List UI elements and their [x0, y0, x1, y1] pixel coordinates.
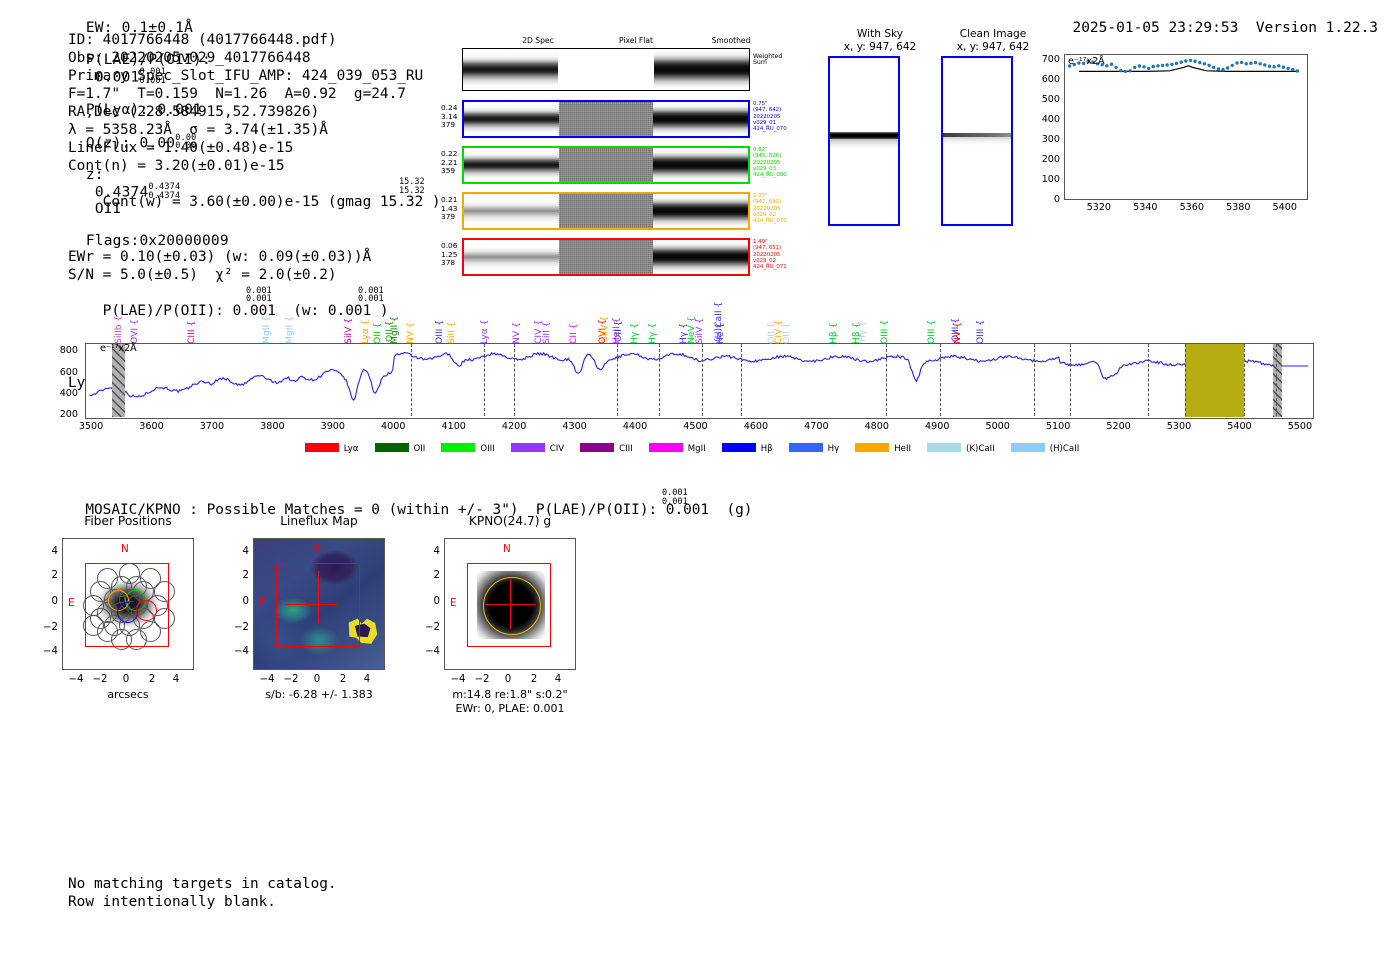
legend-swatch [305, 443, 339, 452]
emission-line-label: Lyα { [479, 308, 490, 344]
lineflux-map-caption: s/b: -6.28 +/- 1.383 [219, 688, 419, 702]
fiber-pixelflat [559, 102, 654, 136]
fiber-left-values: 0.243.14379 [441, 104, 461, 130]
legend-swatch [511, 443, 545, 452]
lineflux-map-plot[interactable]: N E [253, 538, 385, 670]
spectrum-xtick: 4900 [915, 421, 959, 432]
info-gmag-range: 15.3215.32 [399, 178, 425, 195]
info-cont-n: Cont(n) = 3.20(±0.01)e-15 [68, 157, 441, 175]
zoom-ytick: 100 [1036, 174, 1060, 185]
spectrum-marker-line [514, 344, 515, 416]
spectrum-marker-line [659, 344, 660, 416]
legend-entry: HeII [855, 444, 927, 454]
legend-swatch [649, 443, 683, 452]
legend-entry: CIII [580, 444, 649, 454]
spectrum-xtick: 3600 [129, 421, 173, 432]
fiber-smoothed [653, 148, 748, 182]
panel-xtick: −2 [91, 674, 109, 685]
zoom-ytick: 300 [1036, 134, 1060, 145]
info-wavelength-sigma: λ = 5358.23Å σ = 3.74(±1.35)Å [68, 121, 441, 139]
panel-ytick: 0 [42, 596, 58, 607]
info-cont-w-text: Cont(w) = 3.60(±0.00)e-15 (gmag 15.32 ) [103, 194, 441, 210]
fiber-row [462, 100, 750, 138]
panel-xtick: −4 [67, 674, 85, 685]
spectrum-shaded-region [1273, 344, 1281, 417]
legend-entry: Lyα [305, 444, 375, 454]
legend-label: OII [414, 444, 426, 454]
emission-line-label: OII { [613, 270, 624, 342]
spectrum-marker-line [484, 344, 485, 416]
zoom-xtick: 5400 [1267, 202, 1303, 213]
spectrum-xtick: 5500 [1278, 421, 1322, 432]
emission-line-label: SiII { [541, 308, 552, 344]
zoom-xtick: 5320 [1081, 202, 1117, 213]
zoom-spectrum-axes [1064, 54, 1308, 200]
lineflux-map-east-label: E [259, 597, 266, 609]
emission-line-label: MgII { [261, 308, 272, 344]
panel-ytick: 0 [424, 596, 440, 607]
legend-swatch [441, 443, 475, 452]
full-spectrum-plot [86, 344, 1313, 418]
zoom-xtick: 5380 [1220, 202, 1256, 213]
panel-xtick: −2 [473, 674, 491, 685]
legend-label: Hγ [828, 444, 840, 454]
panel-ytick: −4 [42, 646, 58, 657]
fiber-right-labels: 1.07"(947, 642)20220205v029_02424_RU_070 [753, 193, 811, 224]
fiber-left-values: 0.222.21359 [441, 150, 461, 176]
legend-swatch [927, 443, 961, 452]
spectrum-xtick: 5000 [976, 421, 1020, 432]
spectrum-xtick: 4400 [613, 421, 657, 432]
spectrum-marker-line [1185, 344, 1186, 416]
spectrum-shaded-region [1185, 344, 1244, 417]
mosaic-plae-range: 0.0010.001 [662, 489, 688, 506]
full-spectrum-annotation: e⁻¹⁷x2Å [100, 343, 137, 354]
legend-label: MgII [688, 444, 706, 454]
kpno-plot[interactable]: N E [444, 538, 576, 670]
legend-swatch [580, 443, 614, 452]
zoom-xtick: 5340 [1127, 202, 1163, 213]
legend-entry: CIV [511, 444, 580, 454]
spectrum-ytick: 200 [48, 409, 78, 420]
panel-xtick: −4 [449, 674, 467, 685]
panel-xtick: 0 [117, 674, 135, 685]
spectrum-marker-line [1244, 344, 1245, 416]
zoom-spectrum-plot [1065, 55, 1309, 201]
panel-xtick: 4 [358, 674, 376, 685]
spectrum-xtick: 4000 [371, 421, 415, 432]
weighted-sum-row [462, 48, 750, 91]
weighted-sum-label: Weighted Sum [753, 54, 811, 67]
cutout-clean-image: Clean Imagex, y: 947, 642 [941, 56, 1013, 226]
emission-line-label: MgII { [389, 308, 400, 344]
spectrum-marker-line [1276, 344, 1277, 416]
legend-swatch [855, 443, 889, 452]
info-primary-spec-slot: Primary Spec_Slot_IFU_AMP: 424_039_053_R… [68, 67, 441, 85]
emission-line-label: Hγ { [647, 308, 658, 344]
legend-label: Lyα [344, 444, 359, 454]
emission-line-label: SiIV { [599, 270, 610, 342]
fiber-row [462, 146, 750, 184]
emission-line-label: SiIV { [694, 308, 705, 344]
legend-swatch [1011, 443, 1045, 452]
panel-ytick: −4 [424, 646, 440, 657]
emission-line-label: OII { [781, 308, 792, 344]
emission-line-label: (H)CaII { [713, 270, 724, 342]
kpno-north-label: N [503, 543, 511, 555]
kpno-east-label: E [450, 597, 457, 609]
info-lineflux: LineFlux = 1.40(±0.48)e-15 [68, 139, 441, 157]
panel-xtick: 0 [308, 674, 326, 685]
cutout-clean-image-image [941, 56, 1013, 226]
spectrum-xtick: 4100 [432, 421, 476, 432]
panel-xtick: 2 [525, 674, 543, 685]
emission-line-label: OIII { [926, 308, 937, 344]
panel-ytick: 4 [424, 546, 440, 557]
spectrum-xtick: 4500 [673, 421, 717, 432]
montage-col-header-smoothed: Smoothed [676, 36, 786, 45]
emission-line-label: Hβ { [828, 308, 839, 344]
legend-label: CIV [550, 444, 564, 454]
panel-ytick: 2 [233, 570, 249, 581]
legend-entry: OII [375, 444, 442, 454]
panel-xtick: 0 [499, 674, 517, 685]
legend-entry: OIII [441, 444, 510, 454]
spectrum-shaded-region [112, 344, 125, 417]
emission-line-label: NV { [511, 308, 522, 344]
fiber-2dspec [464, 102, 559, 136]
panel-fiber-positions-title: Fiber Positions [48, 514, 208, 528]
panel-xtick: 2 [143, 674, 161, 685]
panel-xtick: −4 [258, 674, 276, 685]
spectrum-marker-line [617, 344, 618, 416]
kpno-caption-2: EWr: 0, PLAE: 0.001 [410, 702, 610, 716]
panel-ytick: 2 [424, 570, 440, 581]
header-timestamp-block: 2025-01-05 23:29:53 Version 1.22.3 [1055, 4, 1378, 36]
emission-line-label: CIII { [186, 308, 197, 344]
spectrum-marker-line [741, 344, 742, 416]
panel-ytick: 2 [42, 570, 58, 581]
emission-line-label: OIII { [950, 270, 961, 342]
panel-xtick: −2 [282, 674, 300, 685]
info-cont-w: Cont(w) = 3.60(±0.00)e-15 (gmag 15.32 ) … [68, 175, 441, 247]
emission-line-label: OII { [372, 308, 383, 344]
emission-line-label: CII { [568, 308, 579, 344]
legend-swatch [789, 443, 823, 452]
emission-line-label: Hγ { [629, 308, 640, 344]
spectrum-xtick: 4300 [553, 421, 597, 432]
timestamp: 2025-01-05 23:29:53 [1072, 20, 1238, 36]
spectrum-xtick: 5300 [1157, 421, 1201, 432]
zoom-ytick: 0 [1036, 194, 1060, 205]
emission-line-label: SiIV { [343, 308, 354, 344]
zoom-ytick: 500 [1036, 94, 1060, 105]
fiber-row [462, 192, 750, 230]
fiber-positions-plot[interactable]: N E [62, 538, 194, 670]
legend-swatch [722, 443, 756, 452]
fiber-right-labels: 0.75"(947, 642)20220205v029_01424_RU_070 [753, 101, 811, 132]
legend-swatch [375, 443, 409, 452]
weighted-sum-2dspec [463, 49, 558, 90]
panel-ytick: 0 [233, 596, 249, 607]
panel-lineflux-map-title: Lineflux Map [239, 514, 399, 528]
fiber-pixelflat [559, 194, 654, 228]
full-spectrum-legend: LyαOIIOIIICIVCIIIMgIIHβHγHeII(K)CaII(H)C… [0, 443, 1400, 454]
weighted-sum-pixelflat [558, 49, 654, 90]
panel-ytick: −2 [424, 622, 440, 633]
legend-entry: Hγ [789, 444, 856, 454]
info-radec: RA,Dec (228.584915,52.739826) [68, 103, 441, 121]
spectrum-xtick: 5400 [1217, 421, 1261, 432]
cutout-with-sky-image [828, 56, 900, 226]
fiber-positions-north-label: N [121, 543, 129, 555]
emission-line-label: OIII { [434, 308, 445, 344]
full-spectrum-panel: SiIIb {OVI {CIII {MgII {MgII {SiIV {Lyα … [0, 262, 1400, 472]
emission-line-label: OVI { [129, 308, 140, 344]
panel-xtick: 2 [334, 674, 352, 685]
panel-ytick: 4 [42, 546, 58, 557]
legend-label: CIII [619, 444, 633, 454]
info-obs: Obs: 20220205v029_4017766448 [68, 49, 441, 67]
fiber-positions-xlabel: arcsecs [28, 688, 228, 702]
legend-label: OIII [480, 444, 494, 454]
emission-line-label: Lyα { [360, 308, 371, 344]
cutout-clean-image-title: Clean Imagex, y: 947, 642 [933, 28, 1053, 53]
footer-line-2: Row intentionally blank. [68, 893, 337, 911]
emission-line-label: MgII { [284, 308, 295, 344]
cutout-with-sky-title: With Skyx, y: 947, 642 [820, 28, 940, 53]
emission-line-label: NV { [405, 308, 416, 344]
zoom-ytick: 600 [1036, 74, 1060, 85]
version-label: Version 1.22.3 [1256, 20, 1378, 36]
footer-note: No matching targets in catalog. Row inte… [68, 875, 337, 911]
zoom-spectrum-panel: 0100200300400500600700 53205340536053805… [1036, 54, 1308, 218]
emission-line-label: OIII { [879, 308, 890, 344]
legend-label: Hβ [761, 444, 773, 454]
fiber-2dspec [464, 148, 559, 182]
spectrum-ytick: 600 [48, 367, 78, 378]
spectrum-ytick: 800 [48, 345, 78, 356]
spectrum-xtick: 3500 [69, 421, 113, 432]
spectrum-marker-line [1148, 344, 1149, 416]
legend-entry: MgII [649, 444, 722, 454]
zoom-ytick: 200 [1036, 154, 1060, 165]
montage-col-header-2dspec: 2D Spec [483, 36, 593, 45]
info-seeing-params: F=1.7" T=0.159 N=1.26 A=0.92 g=24.7 [68, 85, 441, 103]
fiber-smoothed [653, 102, 748, 136]
spectrum-marker-line [1070, 344, 1071, 416]
weighted-sum-smoothed [654, 49, 749, 90]
zoom-spectrum-annotation: e⁻¹⁷x2Å [1068, 56, 1105, 67]
panel-xtick: 4 [167, 674, 185, 685]
legend-label: (K)CaII [966, 444, 995, 454]
spectrum-xtick: 4200 [492, 421, 536, 432]
fiber-pixelflat [559, 148, 654, 182]
spectrum-xtick: 5200 [1097, 421, 1141, 432]
panel-ytick: −2 [42, 622, 58, 633]
legend-entry: (H)CaII [1011, 444, 1096, 454]
spectrum-ytick: 400 [48, 388, 78, 399]
spectrum-marker-line [940, 344, 941, 416]
emission-line-label: OIII { [975, 308, 986, 344]
fiber-smoothed [653, 194, 748, 228]
full-spectrum-axes [85, 343, 1314, 419]
spectrum-xtick: 4600 [734, 421, 778, 432]
spectrum-marker-line [886, 344, 887, 416]
legend-entry: Hβ [722, 444, 789, 454]
spectrum-xtick: 3900 [311, 421, 355, 432]
spectrum-xtick: 3700 [190, 421, 234, 432]
spectrum-xtick: 3800 [250, 421, 294, 432]
spectrum-marker-line [1034, 344, 1035, 416]
emission-line-label: SiIIb { [113, 308, 124, 344]
spectrum-marker-line [411, 344, 412, 416]
fiber-positions-east-label: E [68, 597, 75, 609]
lineflux-map-north-label: N [312, 543, 320, 555]
panel-ytick: 4 [233, 546, 249, 557]
spectrum-xtick: 4800 [855, 421, 899, 432]
spec2d-montage: 2D Spec Pixel Flat Smoothed Weighted Sum… [441, 36, 811, 251]
fiber-positions-fov-box [85, 563, 169, 647]
cutout-with-sky: With Skyx, y: 947, 642 [828, 56, 900, 226]
panel-kpno-title: KPNO(24.7) g [430, 514, 590, 528]
fiber-2dspec [464, 194, 559, 228]
info-id: ID: 4017766448 (4017766448.pdf) [68, 31, 441, 49]
legend-label: (H)CaII [1050, 444, 1080, 454]
legend-label: HeII [894, 444, 911, 454]
legend-entry: (K)CaII [927, 444, 1011, 454]
emission-line-label: Hγ { [857, 270, 868, 342]
zoom-xtick: 5360 [1174, 202, 1210, 213]
spectrum-xtick: 4700 [794, 421, 838, 432]
fiber-right-labels: 0.82"(945, 826)20220205v029_03424_RU_090 [753, 147, 811, 178]
footer-line-1: No matching targets in catalog. [68, 875, 337, 893]
zoom-ytick: 700 [1036, 54, 1060, 65]
panel-xtick: 4 [549, 674, 567, 685]
panel-ytick: −4 [233, 646, 249, 657]
emission-line-label: SiII { [446, 308, 457, 344]
zoom-ytick: 400 [1036, 114, 1060, 125]
kpno-caption-1: m:14.8 re:1.8" s:0.2" [410, 688, 610, 702]
montage-col-header-pixelflat: Pixel Flat [581, 36, 691, 45]
spectrum-xtick: 5100 [1036, 421, 1080, 432]
panel-ytick: −2 [233, 622, 249, 633]
fiber-left-values: 0.211.43379 [441, 196, 461, 222]
spectrum-marker-line [702, 344, 703, 416]
